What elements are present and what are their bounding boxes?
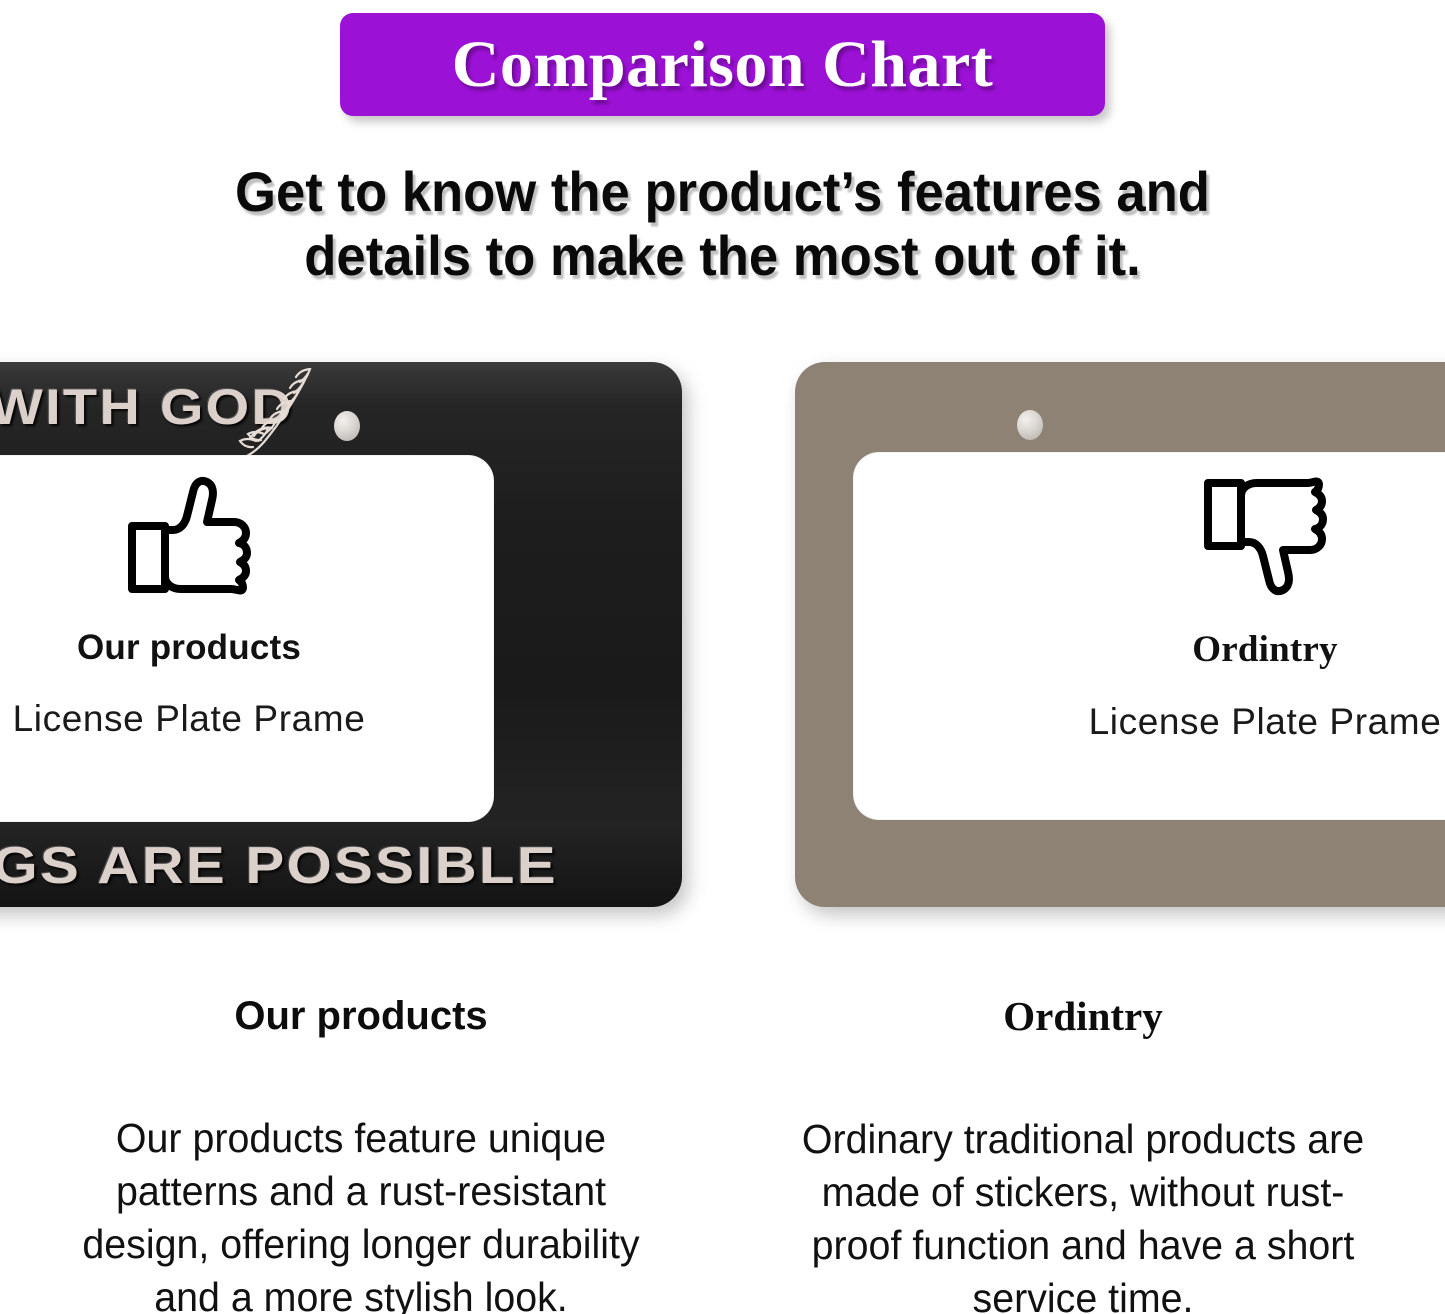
ordinary-product-body-text: Ordinary traditional products are made o… [779,1113,1388,1314]
mounting-hole-right [1017,410,1043,440]
plate-label-main-right: Ordintry [1192,628,1337,671]
comparison-description-columns: Our products Our products feature unique… [0,996,1445,1314]
wheat-sprig-icon [234,368,318,465]
black-frame-surface: WITH GOD [0,362,682,907]
mounting-hole-left [334,411,360,441]
our-product-plate-content: Our products License Plate Prame [0,474,436,740]
ordinary-product-description-column: Ordintry Ordinary traditional products a… [722,996,1444,1314]
rusted-frame-surface: Ordintry License Plate Prame [795,362,1445,907]
ordinary-product-plate-content: Ordintry License Plate Prame [1015,474,1445,743]
page-subtitle: Get to know the product’s features and d… [43,160,1401,288]
ordinary-product-plate-frame: Ordintry License Plate Prame [795,362,1445,907]
comparison-chart-page: Comparison Chart Get to know the product… [0,0,1445,1314]
plate-label-sub-right: License Plate Prame [1089,701,1442,743]
our-product-heading: Our products [44,996,678,1036]
title-banner: Comparison Chart [340,13,1105,116]
subtitle-line-1: Get to know the product’s features and [43,160,1401,224]
our-product-plate-frame: WITH GOD [0,362,682,907]
plate-label-sub-left: License Plate Prame [13,698,366,740]
our-product-description-column: Our products Our products feature unique… [0,996,722,1314]
subtitle-line-2: details to make the most out of it. [43,224,1401,288]
thumbs-down-icon [1201,474,1329,598]
our-product-body-text: Our products feature unique patterns and… [57,1112,666,1314]
plate-label-main-left: Our products [77,628,301,668]
plate-comparison-images: WITH GOD [0,362,1445,907]
plate-slogan-bottom: IGS ARE POSSIBLE [0,840,558,892]
ordinary-product-heading: Ordintry [766,996,1400,1037]
thumbs-up-icon [125,474,253,598]
page-title: Comparison Chart [452,32,994,98]
